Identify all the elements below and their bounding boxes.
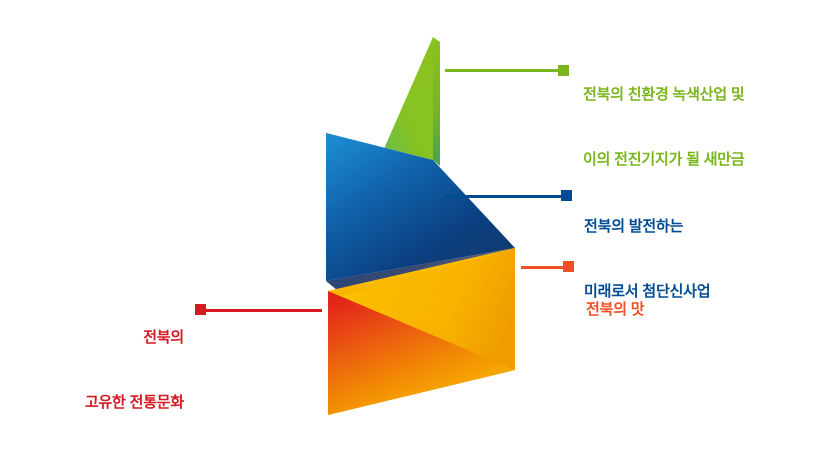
connector-marker-blue bbox=[561, 190, 572, 201]
connector-line-green bbox=[445, 69, 558, 72]
callout-orange[interactable]: 전북의 맛 bbox=[586, 255, 644, 364]
callout-orange-line1: 전북의 맛 bbox=[586, 299, 644, 321]
callout-green-line1: 전북의 친환경 녹색산업 및 bbox=[583, 84, 745, 106]
connector-marker-orange bbox=[563, 261, 574, 272]
connector-line-blue bbox=[445, 195, 563, 198]
connector-line-red bbox=[206, 309, 322, 312]
infographic-canvas: 전북의 친환경 녹색산업 및 이의 전진기지가 될 새만금 전북의 발전하는 미… bbox=[0, 0, 840, 460]
callout-green-line2: 이의 전진기지가 될 새만금 bbox=[583, 149, 745, 171]
connector-marker-red bbox=[195, 304, 206, 315]
connector-marker-green bbox=[558, 65, 569, 76]
green-band-edge bbox=[433, 37, 440, 166]
callout-red[interactable]: 전북의 고유한 전통문화 bbox=[20, 283, 184, 457]
callout-red-line2: 고유한 전통문화 bbox=[20, 392, 184, 414]
callout-red-line1: 전북의 bbox=[20, 327, 184, 349]
connector-line-orange bbox=[521, 266, 565, 269]
callout-blue-line1: 전북의 발전하는 bbox=[584, 216, 710, 238]
